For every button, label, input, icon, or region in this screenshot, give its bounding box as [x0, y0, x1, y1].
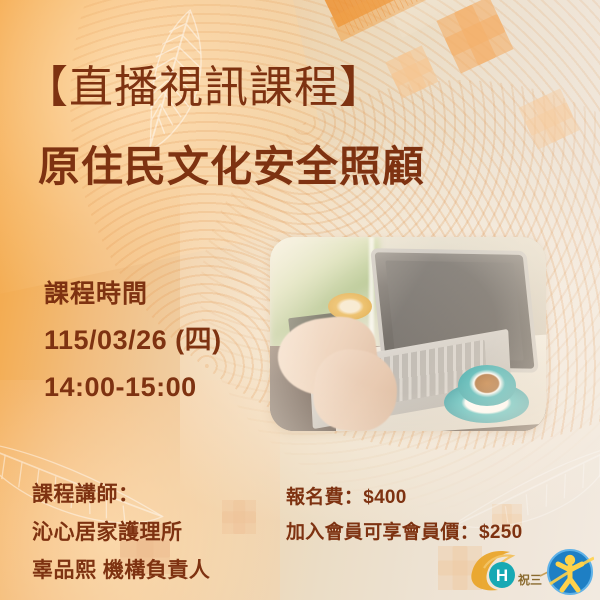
photo-vignette: [270, 237, 546, 431]
medical-cross-icon: [518, 88, 579, 149]
logo-brand-letter: H: [496, 566, 508, 585]
medical-cross-icon: [222, 500, 256, 534]
fee-member-price: 加入會員可享會員價：$250: [286, 523, 522, 542]
page-title-secondary: 原住民文化安全照顧: [38, 146, 425, 188]
schedule-date: 115/03/26 (四): [44, 327, 222, 354]
photo-laptop-typing: [270, 237, 546, 431]
speaker-block: 課程講師： 沁心居家護理所 辜品熙 機構負責人: [32, 484, 210, 581]
speaker-name-title: 辜品熙 機構負責人: [32, 560, 210, 581]
logo-brand-text: 祝三: [518, 572, 542, 587]
ribbon-band-secondary: [330, 0, 593, 41]
schedule-label: 課程時間: [44, 282, 222, 307]
speaker-label: 課程講師：: [32, 484, 210, 505]
medical-cross-icon: [385, 45, 438, 98]
ribbon-stripes: [310, 0, 574, 35]
fees-block: 報名費：$400 加入會員可享會員價：$250: [286, 488, 522, 542]
course-photo: [270, 237, 546, 431]
logo-h-brand-icon: H 祝三: [471, 551, 552, 590]
fee-registration: 報名費：$400: [286, 488, 522, 507]
page-title-primary: 【直播視訊課程】: [24, 66, 384, 110]
schedule-block: 課程時間 115/03/26 (四) 14:00-15:00: [44, 282, 222, 401]
medical-cross-icon: [436, 0, 513, 74]
course-poster: 【直播視訊課程】 原住民文化安全照顧 課程時間 115/03/26: [0, 0, 600, 600]
speaker-organization: 沁心居家護理所: [32, 522, 210, 543]
ribbon-band-primary: [310, 0, 600, 28]
logo-group: H 祝三: [466, 542, 594, 598]
logo-figure-emblem-icon: [548, 550, 594, 594]
schedule-time: 14:00-15:00: [44, 374, 222, 401]
ribbon-highlight: [350, 0, 573, 38]
